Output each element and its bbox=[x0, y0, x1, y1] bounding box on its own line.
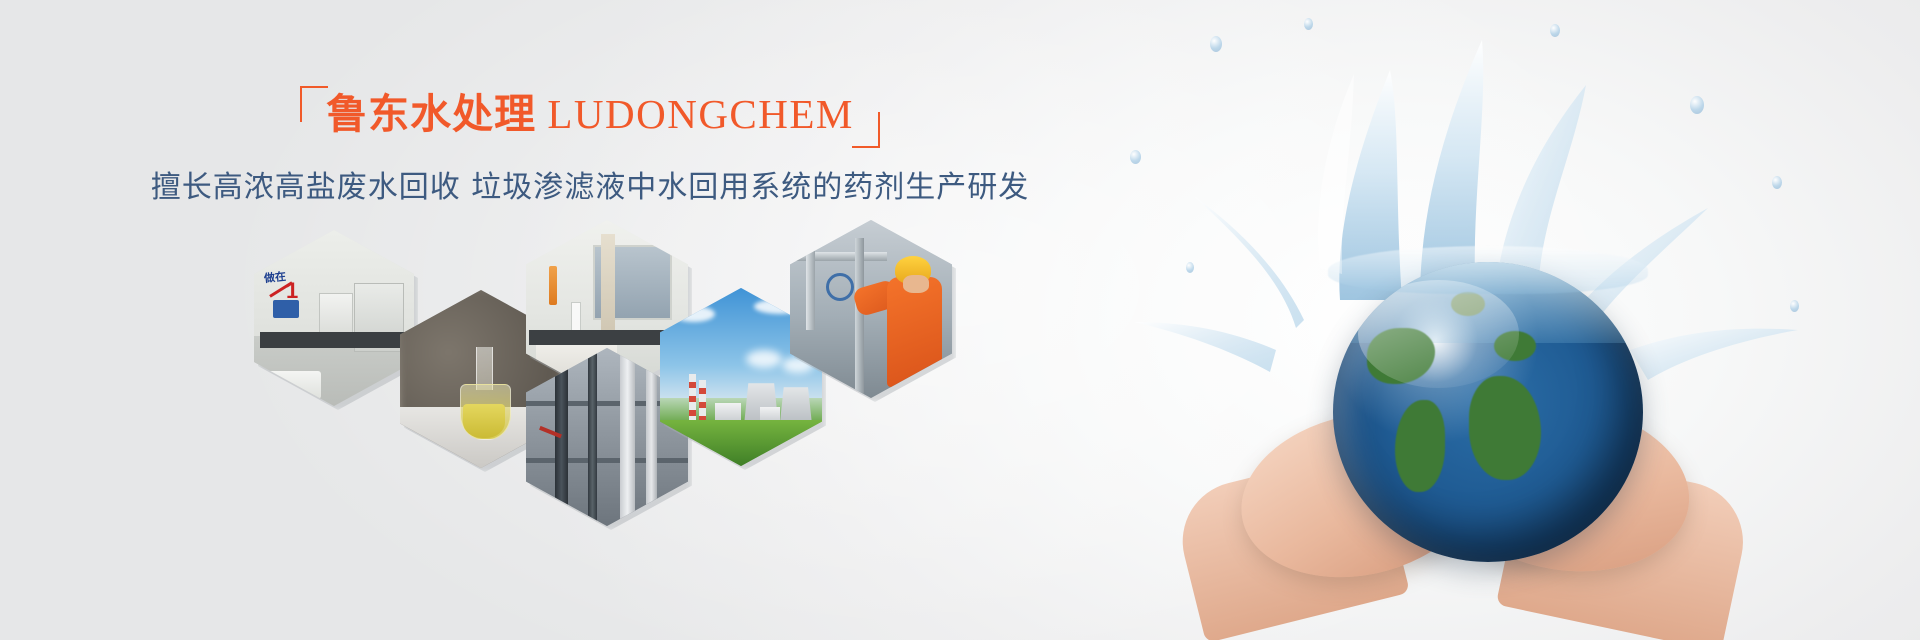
hex-photo-cluster: 做在 1 bbox=[0, 0, 1180, 640]
valve-wheel-icon bbox=[826, 273, 854, 301]
water-droplet-icon bbox=[1772, 176, 1782, 189]
wall-slogan-text: 做在 bbox=[263, 268, 287, 286]
water-droplet-icon bbox=[1186, 262, 1194, 273]
yellow-liquid-icon bbox=[463, 404, 505, 438]
globe-highlight bbox=[1358, 280, 1519, 388]
worker-body-icon bbox=[887, 277, 942, 387]
orange-stand-icon bbox=[549, 266, 557, 305]
continent-africa bbox=[1469, 376, 1541, 480]
cooling-tower-icon bbox=[780, 387, 812, 423]
hero-banner: 鲁东水处理 LUDONGCHEM 擅长高浓高盐废水回收 垃圾渗滤液中水回用系统的… bbox=[0, 0, 1920, 640]
chimney-icon bbox=[689, 374, 696, 420]
water-droplet-icon bbox=[1130, 150, 1141, 164]
chimney-icon bbox=[699, 380, 706, 420]
pipe-icon bbox=[588, 348, 598, 526]
water-droplet-icon bbox=[1550, 24, 1560, 37]
pipe-icon bbox=[806, 220, 815, 330]
water-droplet-icon bbox=[1304, 18, 1313, 30]
pipe-icon bbox=[855, 238, 864, 398]
wall-number-icon: 1 bbox=[286, 278, 298, 304]
water-droplet-icon bbox=[1790, 300, 1799, 312]
water-globe-scene bbox=[1090, 0, 1920, 640]
worker-face-icon bbox=[903, 275, 929, 293]
glassware-icon bbox=[571, 302, 581, 332]
pipe-icon bbox=[620, 348, 635, 526]
water-droplet-icon bbox=[1690, 96, 1704, 114]
earth-globe bbox=[1333, 262, 1643, 562]
pipe-icon bbox=[646, 348, 657, 526]
splash-crown bbox=[1328, 246, 1648, 294]
continent-south-america bbox=[1395, 400, 1445, 492]
water-droplet-icon bbox=[1210, 36, 1222, 52]
